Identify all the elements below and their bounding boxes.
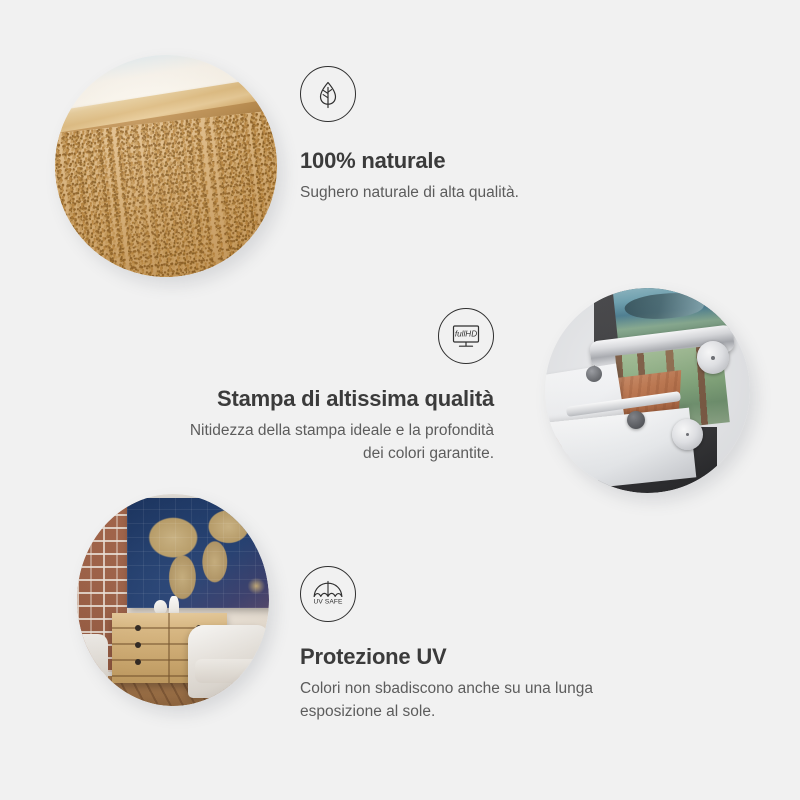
feature-uv-protection: UV SAFE Protezione UV Colori non sbadisc…	[300, 566, 670, 723]
feature-title: Protezione UV	[300, 644, 670, 670]
feature-natural: 100% naturale Sughero naturale di alta q…	[300, 66, 620, 205]
feature-description: Sughero naturale di alta qualità.	[300, 182, 620, 204]
feature-panel: 100% naturale Sughero naturale di alta q…	[0, 0, 800, 800]
feature-title: 100% naturale	[300, 148, 620, 174]
product-photo-printing-machine	[545, 288, 750, 493]
feature-description: Colori non sbadiscono anche su una lunga…	[300, 678, 670, 723]
uv-safe-label: UV SAFE	[314, 599, 343, 606]
cork-vignette	[55, 55, 277, 277]
uv-safe-umbrella-icon: UV SAFE	[300, 566, 356, 622]
feature-description: Nitidezza della stampa ideale e la profo…	[178, 420, 494, 465]
feature-print-quality: fullHD Stampa di altissima qualità Nitid…	[178, 308, 494, 465]
fullhd-label: fullHD	[455, 330, 477, 339]
room-vignette	[77, 494, 269, 706]
product-photo-interior-room	[77, 494, 269, 706]
feature-title: Stampa di altissima qualità	[178, 386, 494, 412]
leaf-icon	[300, 66, 356, 122]
printer-vignette	[545, 288, 750, 493]
fullhd-monitor-icon: fullHD	[438, 308, 494, 364]
product-photo-cork	[55, 55, 277, 277]
badge-row: fullHD	[178, 308, 494, 364]
